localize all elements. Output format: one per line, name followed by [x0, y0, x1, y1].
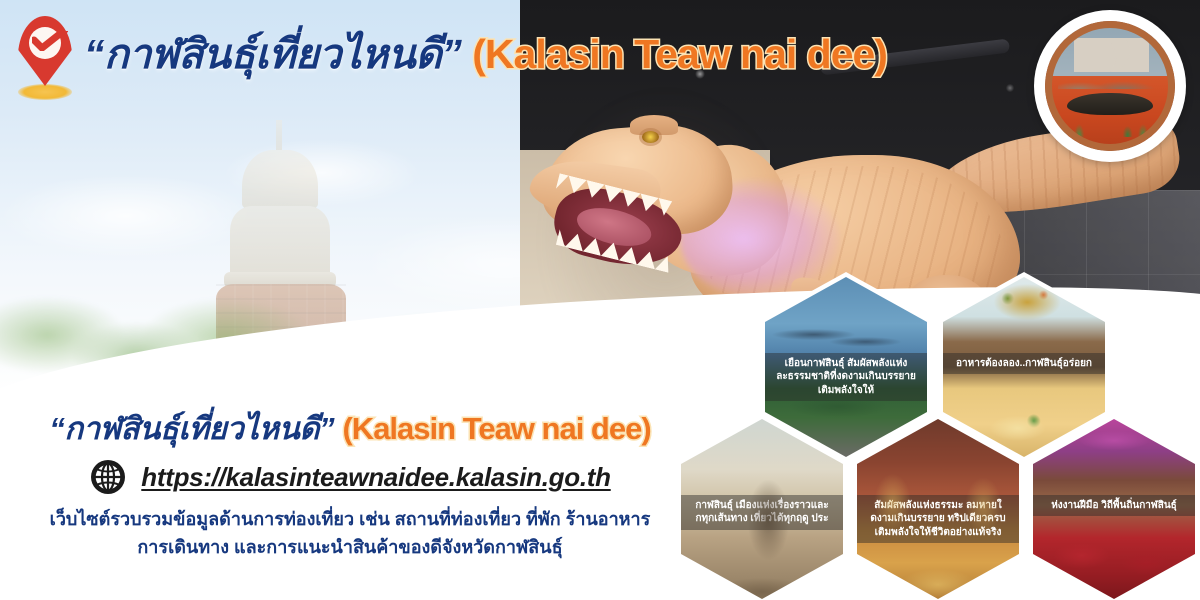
caption-line: เยือนกาฬสินธุ์ สัมผัสพลังแห่ง [771, 357, 921, 371]
hexagon-photo-handicraft: ห่งงานฝีมือ วิถีพื้นถิ่นกาฬสินธุ์ [1033, 419, 1195, 599]
website-url-link[interactable]: https://kalasinteawnaidee.kalasin.go.th [141, 462, 610, 493]
footer-block: “กาฬสินธุ์เที่ยวไหนดี” (Kalasin Teaw nai… [0, 412, 700, 562]
kalasin-province-seal [1034, 10, 1186, 162]
caption-line: ห่งงานฝีมือ วิถีพื้นถิ่นกาฬสินธุ์ [1039, 499, 1189, 513]
footer-title: “กาฬสินธุ์เที่ยวไหนดี” (Kalasin Teaw nai… [0, 412, 700, 446]
seal-artwork [1045, 21, 1175, 151]
website-url-row[interactable]: https://kalasinteawnaidee.kalasin.go.th [0, 458, 700, 496]
hexagon-photo-temple: สัมผัสพลังแห่งธรรมะ ลมหายใ ดงามเกินบรรยา… [857, 419, 1019, 599]
map-pin-check-icon [8, 14, 82, 102]
caption-line: ดงามเกินบรรยาย ทริปเดียวครบ [863, 512, 1013, 526]
page-title-thai: “กาฬสินธุ์เที่ยวไหนดี” [84, 31, 461, 77]
caption-line: กทุกเส้นทาง เที่ยวได้ทุกฤดู ประ [687, 512, 837, 526]
hexagon-gallery: เยือนกาฬสินธุ์ สัมผัสพลังแห่ง ละธรรมชาติ… [676, 268, 1200, 600]
caption-line: เติมพลังใจให้ชีวิตอย่างแท้จริง [863, 526, 1013, 540]
footer-title-thai: “กาฬสินธุ์เที่ยวไหนดี” [49, 411, 334, 446]
description-line: การเดินทาง และการแนะนำสินค้าของดีจังหวัด… [0, 534, 700, 562]
caption-line: เติมพลังใจให้ [771, 384, 921, 398]
globe-icon [89, 458, 127, 496]
hexagon-photo-travel-story: กาฬสินธุ์ เมืองแห่งเรื่องราวและ กทุกเส้น… [681, 419, 843, 599]
kalasin-tourism-banner: “กาฬสินธุ์เที่ยวไหนดี” (Kalasin Teaw nai… [0, 0, 1200, 600]
page-title-roman: (Kalasin Teaw nai dee) [472, 31, 887, 77]
caption-line: อาหารต้องลอง..กาฬสินธุ์อร่อยก [949, 357, 1099, 371]
description-line: เว็บไซต์รวบรวมข้อมูลด้านการท่องเที่ยว เช… [0, 506, 700, 534]
hexagon-caption-travel-story: กาฬสินธุ์ เมืองแห่งเรื่องราวและ กทุกเส้น… [681, 495, 843, 530]
footer-title-roman: (Kalasin Teaw nai dee) [342, 411, 650, 446]
stupa-spire [276, 120, 282, 154]
seal-rim [1045, 21, 1175, 151]
hexagon-caption-temple: สัมผัสพลังแห่งธรรมะ ลมหายใ ดงามเกินบรรยา… [857, 495, 1019, 544]
dinosaur-eye [642, 131, 659, 143]
stupa-midsection [230, 206, 330, 278]
hexagon-photo-food: อาหารต้องลอง..กาฬสินธุ์อร่อยก [943, 277, 1105, 457]
caption-line: ละธรรมชาติที่งดงามเกินบรรยาย [771, 370, 921, 384]
caption-line: กาฬสินธุ์ เมืองแห่งเรื่องราวและ [687, 499, 837, 513]
caption-line: สัมผัสพลังแห่งธรรมะ ลมหายใ [863, 499, 1013, 513]
stupa-bell [242, 150, 318, 210]
hexagon-caption-handicraft: ห่งงานฝีมือ วิถีพื้นถิ่นกาฬสินธุ์ [1033, 495, 1195, 517]
pin-base-shadow [18, 84, 72, 100]
site-description: เว็บไซต์รวบรวมข้อมูลด้านการท่องเที่ยว เช… [0, 506, 700, 562]
check-mark-icon [32, 31, 68, 51]
hexagon-caption-nature: เยือนกาฬสินธุ์ สัมผัสพลังแห่ง ละธรรมชาติ… [765, 353, 927, 402]
page-title: “กาฬสินธุ์เที่ยวไหนดี” (Kalasin Teaw nai… [84, 22, 887, 87]
hexagon-caption-food: อาหารต้องลอง..กาฬสินธุ์อร่อยก [943, 353, 1105, 375]
